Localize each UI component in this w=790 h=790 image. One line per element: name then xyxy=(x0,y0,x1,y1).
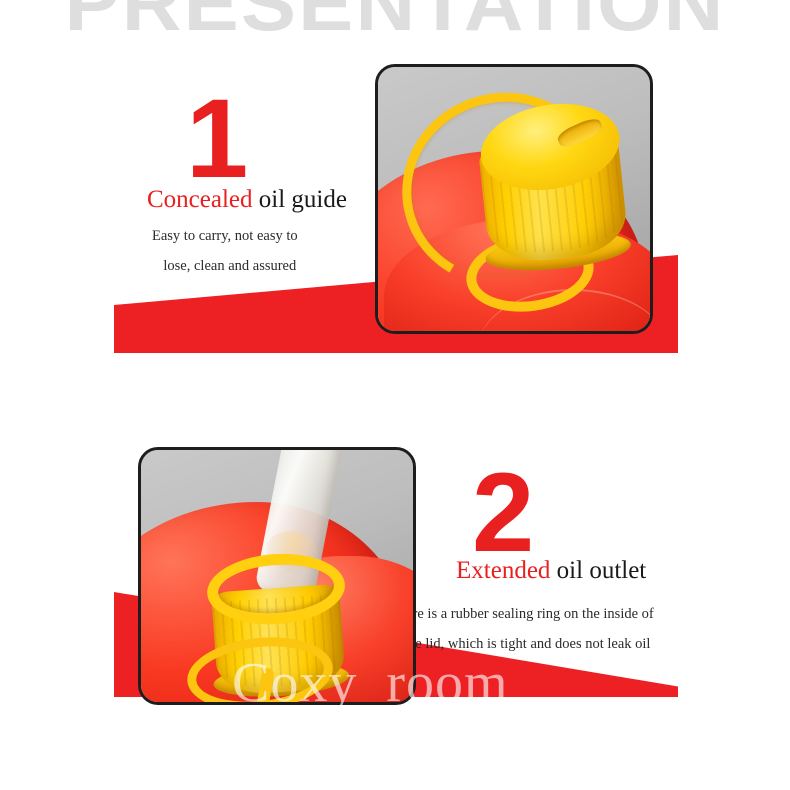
section-headline-1-accent: Concealed xyxy=(147,186,253,213)
presentation-watermark-heading: PRESENTATION xyxy=(0,0,790,42)
section-number-2: 2 xyxy=(472,457,534,569)
section-number-1: 1 xyxy=(186,83,248,195)
section-subtext-2-line1: There is a rubber sealing ring on the in… xyxy=(390,606,654,622)
section-subtext-1-line1: Easy to carry, not easy to xyxy=(152,228,298,244)
product-photo-1-inner xyxy=(378,67,650,331)
section-headline-1-rest: oil guide xyxy=(253,186,347,213)
product-photo-1 xyxy=(375,64,653,334)
section-headline-2-accent: Extended xyxy=(456,557,550,584)
section-subtext-2: There is a rubber sealing ring on the in… xyxy=(390,600,654,659)
section-headline-2: Extended oil outlet xyxy=(456,557,646,585)
product-photo-2 xyxy=(138,447,416,705)
section-subtext-1: Easy to carry, not easy to lose, clean a… xyxy=(152,222,298,281)
yellow-screw-cap xyxy=(468,95,636,270)
presentation-page: PRESENTATION 1 Concealed oil guide Easy … xyxy=(0,0,790,790)
product-photo-2-inner xyxy=(141,450,413,702)
section-subtext-1-line2: lose, clean and assured xyxy=(152,252,298,282)
section-headline-1: Concealed oil guide xyxy=(147,186,347,214)
section-subtext-2-line2: the lid, which is tight and does not lea… xyxy=(390,630,654,660)
section-headline-2-rest: oil outlet xyxy=(550,557,646,584)
